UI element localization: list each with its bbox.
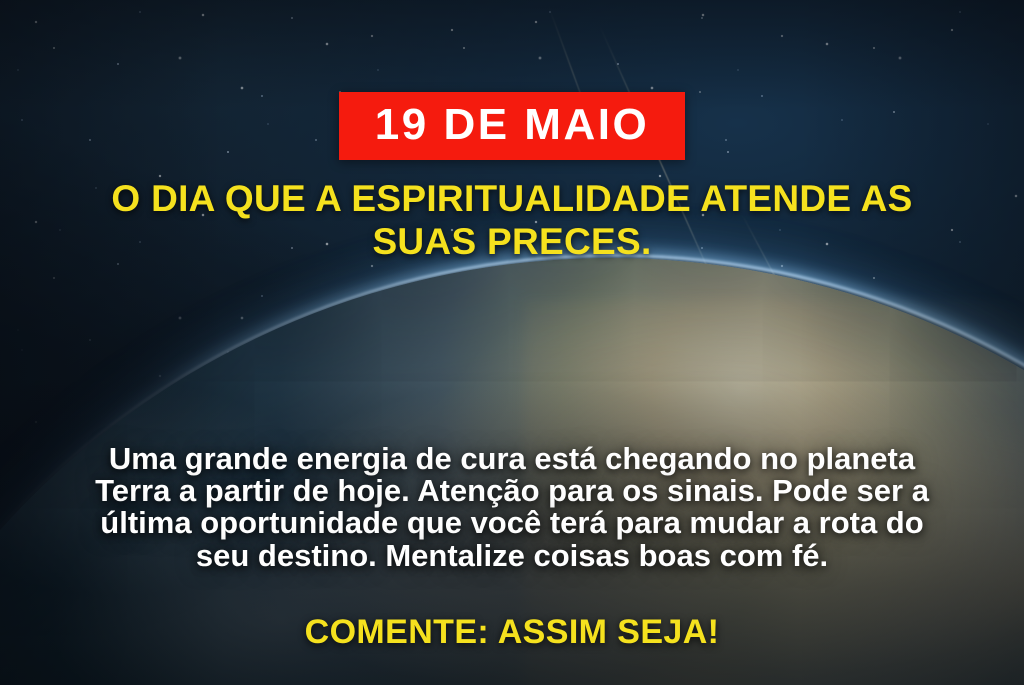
body-paragraph: Uma grande energia de cura está chegando… xyxy=(72,443,952,572)
call-to-action-text: COMENTE: ASSIM SEJA! xyxy=(305,613,720,652)
page-title: O DIA QUE A ESPIRITUALIDADE ATENDE AS SU… xyxy=(62,178,962,264)
date-banner: 19 DE MAIO xyxy=(339,92,685,160)
poster-content: 19 DE MAIO O DIA QUE A ESPIRITUALIDADE A… xyxy=(0,0,1024,685)
poster: 19 DE MAIO O DIA QUE A ESPIRITUALIDADE A… xyxy=(0,0,1024,685)
